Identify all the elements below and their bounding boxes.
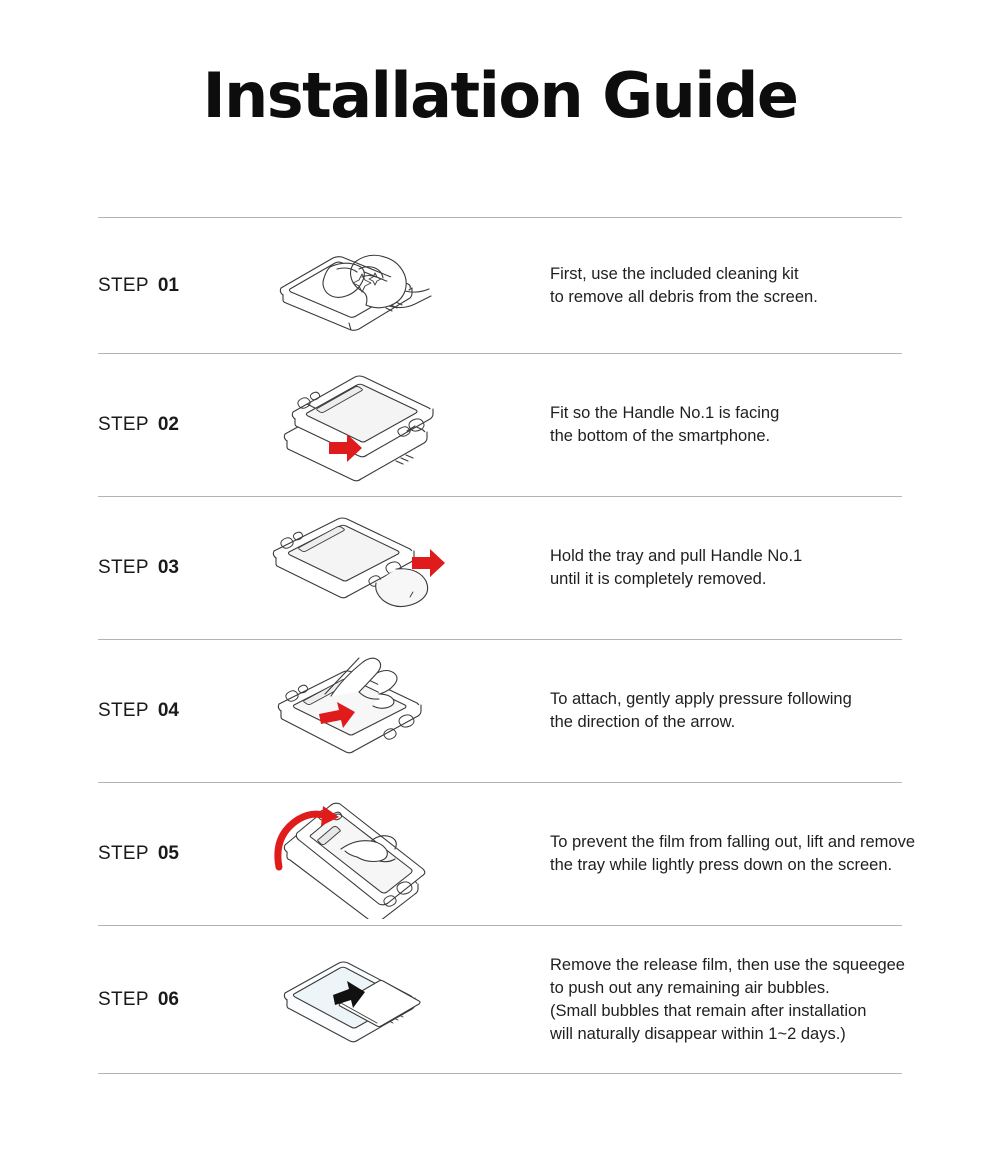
- step-number: 02: [158, 414, 179, 435]
- steps-list: STEP01: [98, 217, 902, 1074]
- step-text-line: First, use the included cleaning kit: [550, 263, 902, 286]
- step-text-line: To attach, gently apply pressure followi…: [550, 688, 902, 711]
- step-row: STEP04: [98, 640, 902, 782]
- step-text-01: First, use the included cleaning kit to …: [468, 263, 902, 309]
- squeegee-bubbles-icon: [271, 947, 446, 1052]
- step-text-line: the tray while lightly press down on the…: [550, 854, 915, 877]
- phone-cleaning-wipe-icon: [263, 236, 453, 336]
- step-text-line: Remove the release film, then use the sq…: [550, 954, 905, 977]
- step-label-04: STEP04: [98, 700, 248, 722]
- step-label-01: STEP01: [98, 275, 248, 297]
- step-word: STEP: [98, 989, 149, 1010]
- step-text-06: Remove the release film, then use the sq…: [468, 954, 905, 1046]
- step-text-line: To prevent the film from falling out, li…: [550, 831, 915, 854]
- step-row: STEP06: [98, 926, 902, 1073]
- divider-bottom: [98, 1073, 902, 1074]
- step-text-02: Fit so the Handle No.1 is facing the bot…: [468, 402, 902, 448]
- step-text-04: To attach, gently apply pressure followi…: [468, 688, 902, 734]
- step-number: 01: [158, 275, 179, 296]
- step-text-line: Hold the tray and pull Handle No.1: [550, 545, 902, 568]
- step-text-line: to push out any remaining air bubbles.: [550, 977, 905, 1000]
- step-word: STEP: [98, 414, 149, 435]
- pull-handle-icon: [258, 511, 458, 626]
- step-text-line: the bottom of the smartphone.: [550, 425, 902, 448]
- step-label-03: STEP03: [98, 557, 248, 579]
- step-number: 04: [158, 700, 179, 721]
- step-number: 05: [158, 843, 179, 864]
- step-row: STEP03: [98, 497, 902, 639]
- step-number: 03: [158, 557, 179, 578]
- step-figure-03: [248, 511, 468, 626]
- step-text-05: To prevent the film from falling out, li…: [468, 831, 915, 877]
- step-label-02: STEP02: [98, 414, 248, 436]
- step-label-05: STEP05: [98, 843, 248, 865]
- step-number: 06: [158, 989, 179, 1010]
- step-text-line: until it is completely removed.: [550, 568, 902, 591]
- step-text-line: will naturally disappear within 1~2 days…: [550, 1023, 905, 1046]
- step-text-line: the direction of the arrow.: [550, 711, 902, 734]
- step-figure-06: [248, 947, 468, 1052]
- step-word: STEP: [98, 275, 149, 296]
- step-row: STEP05: [98, 783, 902, 925]
- step-word: STEP: [98, 700, 149, 721]
- step-figure-02: [248, 368, 468, 483]
- step-row: STEP02: [98, 354, 902, 496]
- step-text-line: (Small bubbles that remain after install…: [550, 1000, 905, 1023]
- step-figure-01: [248, 236, 468, 336]
- installation-guide-page: Installation Guide STEP01: [0, 0, 1000, 1163]
- step-figure-04: [248, 652, 468, 770]
- step-figure-05: [248, 789, 468, 919]
- tray-alignment-icon: [263, 368, 453, 483]
- lift-tray-icon: [263, 789, 453, 919]
- step-label-06: STEP06: [98, 989, 248, 1011]
- step-row: STEP01: [98, 218, 902, 353]
- step-text-line: to remove all debris from the screen.: [550, 286, 902, 309]
- press-film-icon: [263, 652, 453, 770]
- step-word: STEP: [98, 557, 149, 578]
- page-title: Installation Guide: [0, 62, 1000, 130]
- step-text-03: Hold the tray and pull Handle No.1 until…: [468, 545, 902, 591]
- step-text-line: Fit so the Handle No.1 is facing: [550, 402, 902, 425]
- step-word: STEP: [98, 843, 149, 864]
